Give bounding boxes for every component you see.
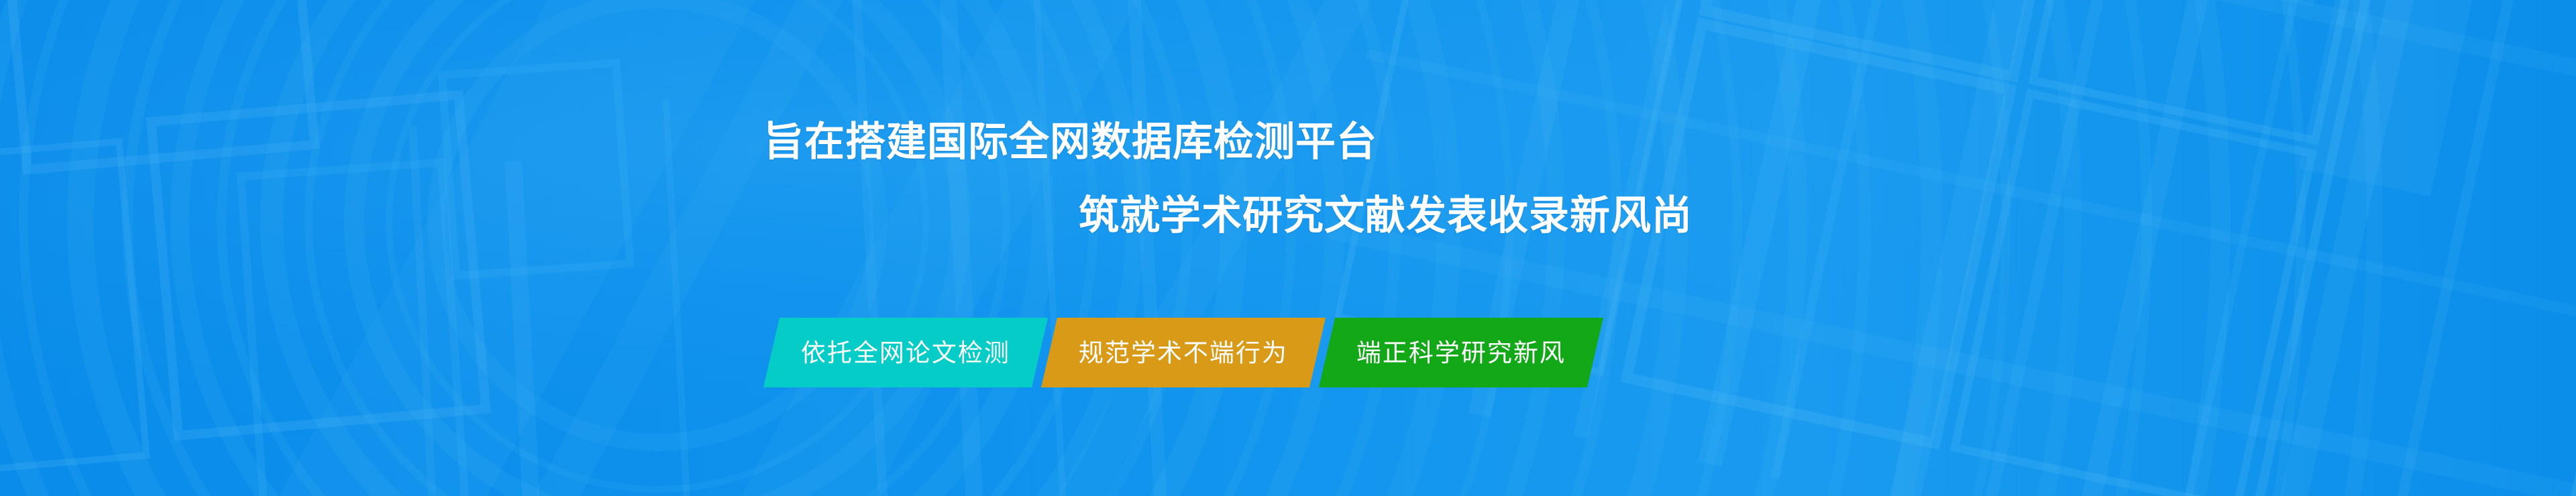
tag-research-ethos-label: 端正科学研究新风 bbox=[1356, 340, 1566, 365]
tag-academic-misconduct[interactable]: 规范学术不端行为 bbox=[1041, 318, 1326, 387]
promo-banner: 旨在搭建国际全网数据库检测平台 筑就学术研究文献发表收录新风尚 依托全网论文检测… bbox=[0, 0, 2576, 496]
background-pattern bbox=[0, 0, 2576, 496]
tag-academic-misconduct-label: 规范学术不端行为 bbox=[1079, 340, 1288, 365]
feature-tag-strip: 依托全网论文检测 规范学术不端行为 端正科学研究新风 bbox=[771, 318, 1595, 387]
tag-paper-detection-label: 依托全网论文检测 bbox=[801, 340, 1010, 365]
tag-paper-detection[interactable]: 依托全网论文检测 bbox=[763, 318, 1048, 387]
tag-research-ethos[interactable]: 端正科学研究新风 bbox=[1319, 318, 1603, 387]
